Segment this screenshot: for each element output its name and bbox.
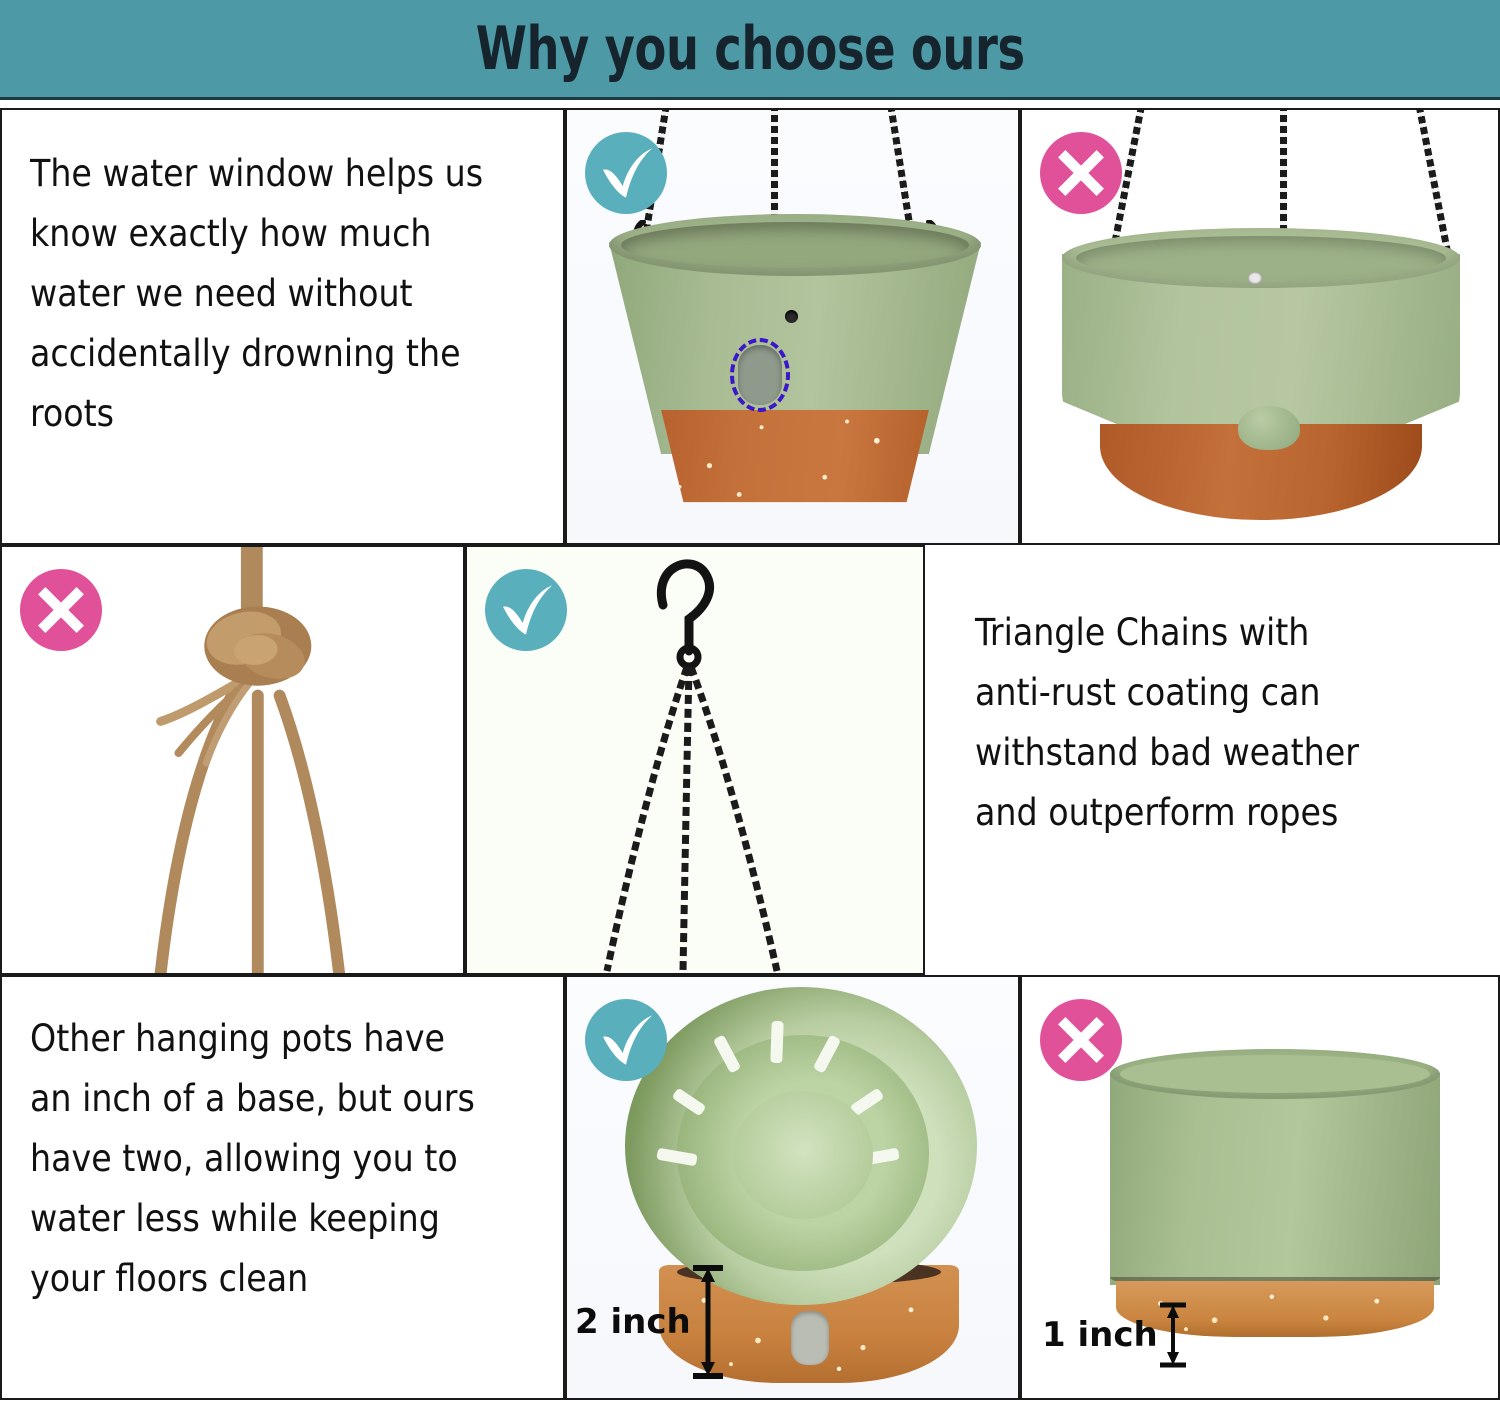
badge-check	[585, 132, 667, 214]
cross-icon	[1040, 999, 1122, 1081]
pot-green-section	[1110, 1073, 1440, 1285]
cell-water-window-text: The water window helps us know exactly h…	[0, 108, 565, 545]
page-title: Why you choose ours	[475, 14, 1024, 84]
pot-inner-rim	[621, 222, 969, 268]
base-depth-copy: Other hanging pots have an inch of a bas…	[2, 977, 563, 1309]
cell-chain-hanger	[465, 545, 925, 975]
copy-line: Triangle Chains with	[975, 603, 1460, 663]
cell-rope-hanger	[0, 545, 465, 975]
chains-copy: Triangle Chains with anti-rust coating c…	[925, 545, 1500, 843]
check-icon	[585, 132, 667, 214]
drain-slot	[770, 1021, 783, 1063]
water-window-annotation	[730, 338, 790, 412]
cylindrical-pot	[1110, 1049, 1440, 1331]
copy-line: roots	[30, 384, 523, 444]
pot-inner-rim	[1076, 236, 1446, 280]
cell-our-deep-base: 2 inch	[565, 975, 1020, 1400]
dimension-arrow-icon	[691, 1262, 725, 1382]
pot-inner-rim	[1120, 1055, 1430, 1093]
cell-chains-text: Triangle Chains with anti-rust coating c…	[925, 545, 1500, 975]
copy-line: anti-rust coating can	[975, 663, 1460, 723]
chain-hole	[1248, 272, 1262, 284]
pot-body	[609, 214, 981, 496]
highlight-ellipse-icon	[730, 338, 790, 412]
dimension-2-inch: 2 inch	[575, 1262, 725, 1382]
copy-line: The water window helps us	[30, 144, 523, 204]
badge-check	[485, 569, 567, 651]
copy-line: your floors clean	[30, 1249, 523, 1309]
pot-bump	[1238, 406, 1300, 450]
cell-base-depth-text: Other hanging pots have an inch of a bas…	[0, 975, 565, 1400]
badge-cross	[1040, 132, 1122, 214]
copy-line: an inch of a base, but ours	[30, 1069, 523, 1129]
inner-pot	[625, 987, 977, 1305]
comparison-grid: The water window helps us know exactly h…	[0, 100, 1500, 1402]
copy-line: withstand bad weather	[975, 723, 1460, 783]
chain-strand	[887, 108, 914, 230]
copy-line: water less while keeping	[30, 1189, 523, 1249]
cross-icon	[1040, 132, 1122, 214]
cell-competitor-shallow-base: 1 inch	[1020, 975, 1500, 1400]
check-icon	[485, 569, 567, 651]
water-window-copy: The water window helps us know exactly h…	[2, 110, 563, 444]
cell-competitor-hanging-pot	[1020, 108, 1500, 545]
copy-line: accidentally drowning the	[30, 324, 523, 384]
copy-line: Other hanging pots have	[30, 1009, 523, 1069]
pot-terracotta-base	[609, 410, 981, 506]
check-icon	[585, 999, 667, 1081]
copy-line: have two, allowing you to	[30, 1129, 523, 1189]
badge-check	[585, 999, 667, 1081]
badge-cross	[20, 569, 102, 651]
cell-our-hanging-pot	[565, 108, 1020, 545]
copy-line: and outperform ropes	[975, 783, 1460, 843]
cross-icon	[20, 569, 102, 651]
badge-cross	[1040, 999, 1122, 1081]
pot-body	[1062, 228, 1460, 518]
water-window	[791, 1311, 829, 1365]
dimension-label: 1 inch	[1042, 1315, 1158, 1355]
inner-pot-center	[733, 1091, 873, 1219]
dimension-1-inch: 1 inch	[1042, 1300, 1188, 1370]
dimension-arrow-icon	[1158, 1300, 1188, 1370]
page-header: Why you choose ours	[0, 0, 1500, 100]
infographic-page: Why you choose ours The water window hel…	[0, 0, 1500, 1402]
dimension-label: 2 inch	[575, 1302, 691, 1342]
chain-hole	[785, 310, 798, 323]
copy-line: know exactly how much	[30, 204, 523, 264]
copy-line: water we need without	[30, 264, 523, 324]
